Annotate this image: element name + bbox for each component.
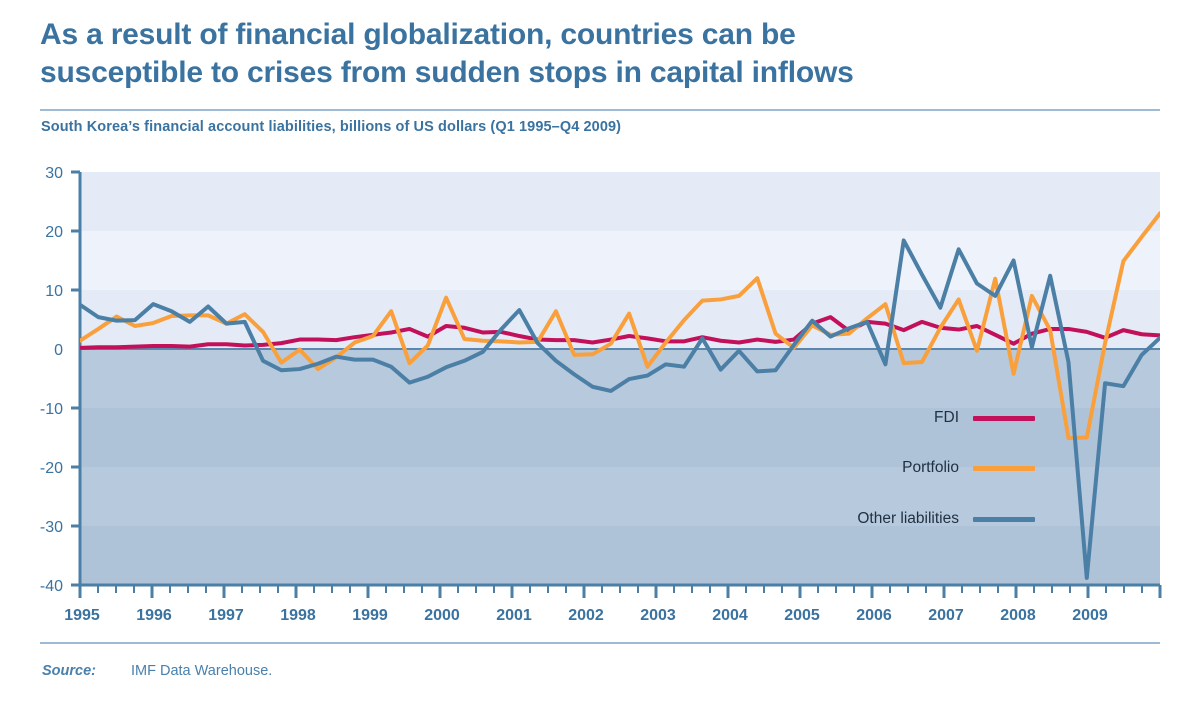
x-axis-tick-label: 2003 [640,607,676,624]
x-axis-tick-label: 2007 [928,607,964,624]
legend-label-other-liabilities: Other liabilities [857,510,959,528]
x-axis-tick-label: 1995 [64,607,100,624]
x-axis-tick-label: 2008 [1000,607,1036,624]
y-axis-tick-label: -10 [40,401,63,418]
y-axis-tick-label: -40 [40,578,63,595]
legend-item-portfolio[interactable]: Portfolio [700,458,1035,478]
x-axis-tick-label: 1996 [136,607,172,624]
chart-band [80,349,1160,408]
chart-band [80,526,1160,585]
chart-page: As a result of financial globalization, … [0,0,1200,702]
y-axis-tick-label: 30 [45,165,63,182]
legend-item-fdi[interactable]: FDI [700,408,1035,428]
x-axis-tick-label: 2004 [712,607,748,624]
x-axis-tick-label: 2002 [568,607,604,624]
legend-item-other-liabilities[interactable]: Other liabilities [700,509,1035,529]
x-axis-tick-label: 1997 [208,607,244,624]
x-axis-tick-label: 1998 [280,607,316,624]
y-axis-tick-label: -30 [40,519,63,536]
y-axis-tick-label: -20 [40,460,63,477]
y-axis-tick-label: 0 [54,342,63,359]
x-axis-tick-label: 2000 [424,607,460,624]
legend-swatch-fdi [973,416,1035,421]
footer-divider [40,642,1160,644]
legend-label-fdi: FDI [934,409,959,427]
x-axis-tick-label: 2009 [1072,607,1108,624]
legend-swatch-other-liabilities [973,517,1035,522]
chart-svg: 3020100-10-20-30-40199519961997199819992… [0,0,1200,702]
y-axis-tick-label: 10 [45,283,63,300]
x-axis-tick-label: 2006 [856,607,892,624]
legend-label-portfolio: Portfolio [902,459,959,477]
x-axis-tick-label: 2005 [784,607,820,624]
legend-swatch-portfolio [973,466,1035,471]
line-chart: 3020100-10-20-30-40199519961997199819992… [0,0,1200,702]
x-axis-tick-label: 2001 [496,607,532,624]
x-axis-tick-label: 1999 [352,607,388,624]
source-text: IMF Data Warehouse. [131,663,272,679]
source-label: Source: [42,663,96,679]
chart-band [80,231,1160,290]
chart-band [80,172,1160,231]
y-axis-tick-label: 20 [45,224,63,241]
